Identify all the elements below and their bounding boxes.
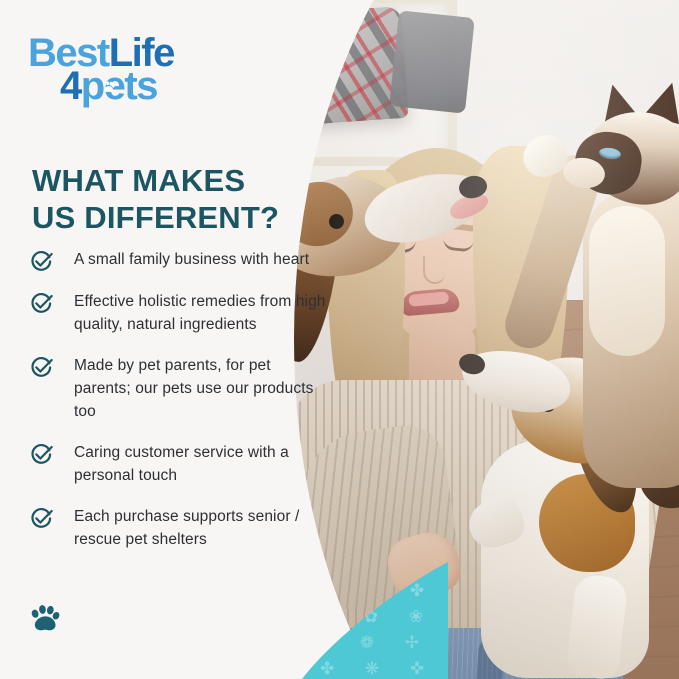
photo-cat bbox=[517, 96, 679, 516]
list-item-label: Made by pet parents, for pet parents; ou… bbox=[74, 355, 330, 424]
check-circle-icon bbox=[30, 507, 53, 530]
brand-logo[interactable]: BestLife 4pets bbox=[28, 33, 198, 113]
headline-line-two: US DIFFERENT? bbox=[32, 200, 322, 237]
logo-line-two: 4pets bbox=[60, 66, 198, 106]
photo-cat-chest bbox=[589, 206, 665, 356]
logo-text-pets: pets bbox=[81, 64, 157, 108]
photo-dog-lower-leg bbox=[566, 574, 628, 679]
list-item-label: Effective holistic remedies from high qu… bbox=[74, 291, 330, 337]
list-item-label: Caring customer service with a personal … bbox=[74, 442, 330, 488]
photo-grey-textile bbox=[389, 10, 475, 113]
photo-dog-upper-eye bbox=[329, 214, 344, 229]
list-item: A small family business with heart bbox=[30, 249, 330, 273]
list-item: Caring customer service with a personal … bbox=[30, 442, 330, 488]
check-circle-icon bbox=[30, 250, 53, 273]
check-circle-icon bbox=[30, 443, 53, 466]
list-item-label: A small family business with heart bbox=[74, 249, 309, 272]
page-title: WHAT MAKES US DIFFERENT? bbox=[32, 163, 322, 236]
check-circle-icon bbox=[30, 292, 53, 315]
footer-paw-print-icon bbox=[28, 602, 62, 634]
headline-line-one: WHAT MAKES bbox=[32, 163, 322, 200]
marketing-ad-card: ✿ ❀ ♥ ✦ ❁ ✢ ♡ ✤ ❋ ✜ ✿ ❀ ♥ ✦ ❁ ✢ ♡ ✤ ❋ ✜ … bbox=[0, 0, 679, 679]
benefits-list: A small family business with heart Effec… bbox=[30, 249, 330, 569]
content-panel: BestLife 4pets WHAT MAKES US DIFFERENT? bbox=[0, 0, 330, 679]
list-item: Made by pet parents, for pet parents; ou… bbox=[30, 355, 330, 424]
hero-photo bbox=[279, 0, 679, 679]
logo-text-four: 4 bbox=[60, 64, 81, 108]
list-item: Effective holistic remedies from high qu… bbox=[30, 291, 330, 337]
logo-paw-print-icon bbox=[101, 80, 116, 94]
list-item: Each purchase supports senior / rescue p… bbox=[30, 506, 330, 552]
check-circle-icon bbox=[30, 356, 53, 379]
list-item-label: Each purchase supports senior / rescue p… bbox=[74, 506, 330, 552]
